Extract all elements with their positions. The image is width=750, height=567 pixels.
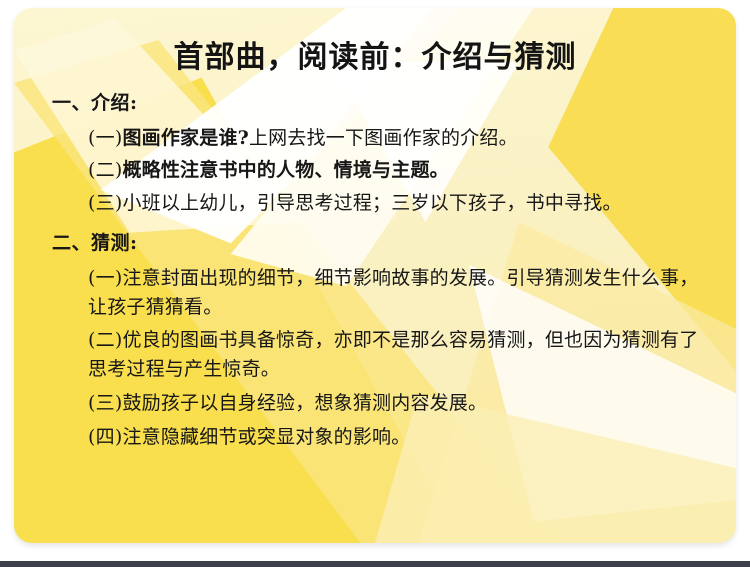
list-item-text: 注意隐藏细节或突显对象的影响。 [122, 426, 410, 448]
list-item-text: 优良的图画书具备惊奇，亦即不是那么容易猜测，但也因为猜测有了思考过程与产生惊奇。 [88, 329, 698, 380]
slide-card: 首部曲，阅读前：介绍与猜测 一、介绍: (一)图画作家是谁?上网去找一下图画作家… [14, 8, 736, 543]
list-marker: (四) [88, 426, 122, 448]
section-spacer [40, 223, 714, 230]
list-item-text: 上网去找一下图画作家的介绍。 [249, 127, 518, 149]
section-heading-introduction: 一、介绍: [52, 90, 714, 118]
list-item: (二)概略性注意书中的人物、情境与主题。 [88, 156, 714, 185]
list-item: (三)小班以上幼儿，引导思考过程；三岁以下孩子，书中寻找。 [88, 189, 714, 218]
list-item-bold: 图画作家是谁? [122, 127, 249, 149]
list-marker: (二) [88, 329, 122, 351]
list-marker: (一) [88, 267, 122, 289]
slide-body: 一、介绍: (一)图画作家是谁?上网去找一下图画作家的介绍。 (二)概略性注意书… [40, 90, 714, 457]
list-item-text: 注意封面出现的细节，细节影响故事的发展。引导猜测发生什么事，让孩子猜猜看。 [88, 267, 698, 318]
list-marker: (三) [88, 192, 122, 214]
list-marker: (三) [88, 392, 122, 414]
list-item: (一)图画作家是谁?上网去找一下图画作家的介绍。 [88, 124, 714, 153]
list-item-text: 小班以上幼儿，引导思考过程；三岁以下孩子，书中寻找。 [122, 192, 621, 214]
slide-canvas: 首部曲，阅读前：介绍与猜测 一、介绍: (一)图画作家是谁?上网去找一下图画作家… [0, 0, 750, 567]
list-item: (三)鼓励孩子以自身经验，想象猜测内容发展。 [88, 389, 714, 418]
list-item-bold: 概略性注意书中的人物、情境与主题。 [122, 159, 448, 181]
bottom-rule [0, 561, 750, 567]
list-marker: (一) [88, 127, 122, 149]
list-item: (一)注意封面出现的细节，细节影响故事的发展。引导猜测发生什么事，让孩子猜猜看。 [88, 264, 714, 322]
slide-content: 首部曲，阅读前：介绍与猜测 一、介绍: (一)图画作家是谁?上网去找一下图画作家… [14, 8, 736, 543]
list-item: (二)优良的图画书具备惊奇，亦即不是那么容易猜测，但也因为猜测有了思考过程与产生… [88, 326, 714, 384]
slide-title: 首部曲，阅读前：介绍与猜测 [14, 32, 736, 76]
list-item: (四)注意隐藏细节或突显对象的影响。 [88, 423, 714, 452]
section-heading-guessing: 二、猜测: [52, 230, 714, 258]
list-marker: (二) [88, 159, 122, 181]
list-item-text: 鼓励孩子以自身经验，想象猜测内容发展。 [122, 392, 487, 414]
